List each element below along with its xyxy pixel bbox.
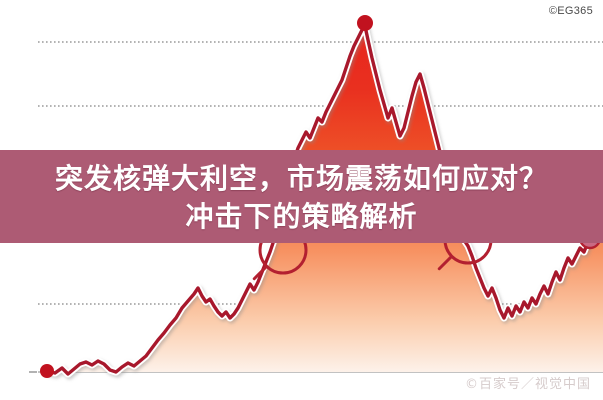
- peak-dot: [357, 15, 373, 31]
- headline-line-1: 突发核弹大利空，市场震荡如何应对？: [55, 160, 548, 198]
- watermark-bottom-right: ©百家号／视觉中国: [465, 373, 591, 392]
- screenshot-root: ©EG365 突发核弹大利空，市场震荡如何应对？ 冲击下的策略解析 ©百家号／视…: [0, 0, 603, 400]
- headline-overlay-band: 突发核弹大利空，市场震荡如何应对？ 冲击下的策略解析: [0, 150, 603, 243]
- headline-line-2: 冲击下的策略解析: [185, 198, 417, 236]
- start-dot: [40, 364, 54, 378]
- watermark-top-right: ©EG365: [549, 5, 593, 17]
